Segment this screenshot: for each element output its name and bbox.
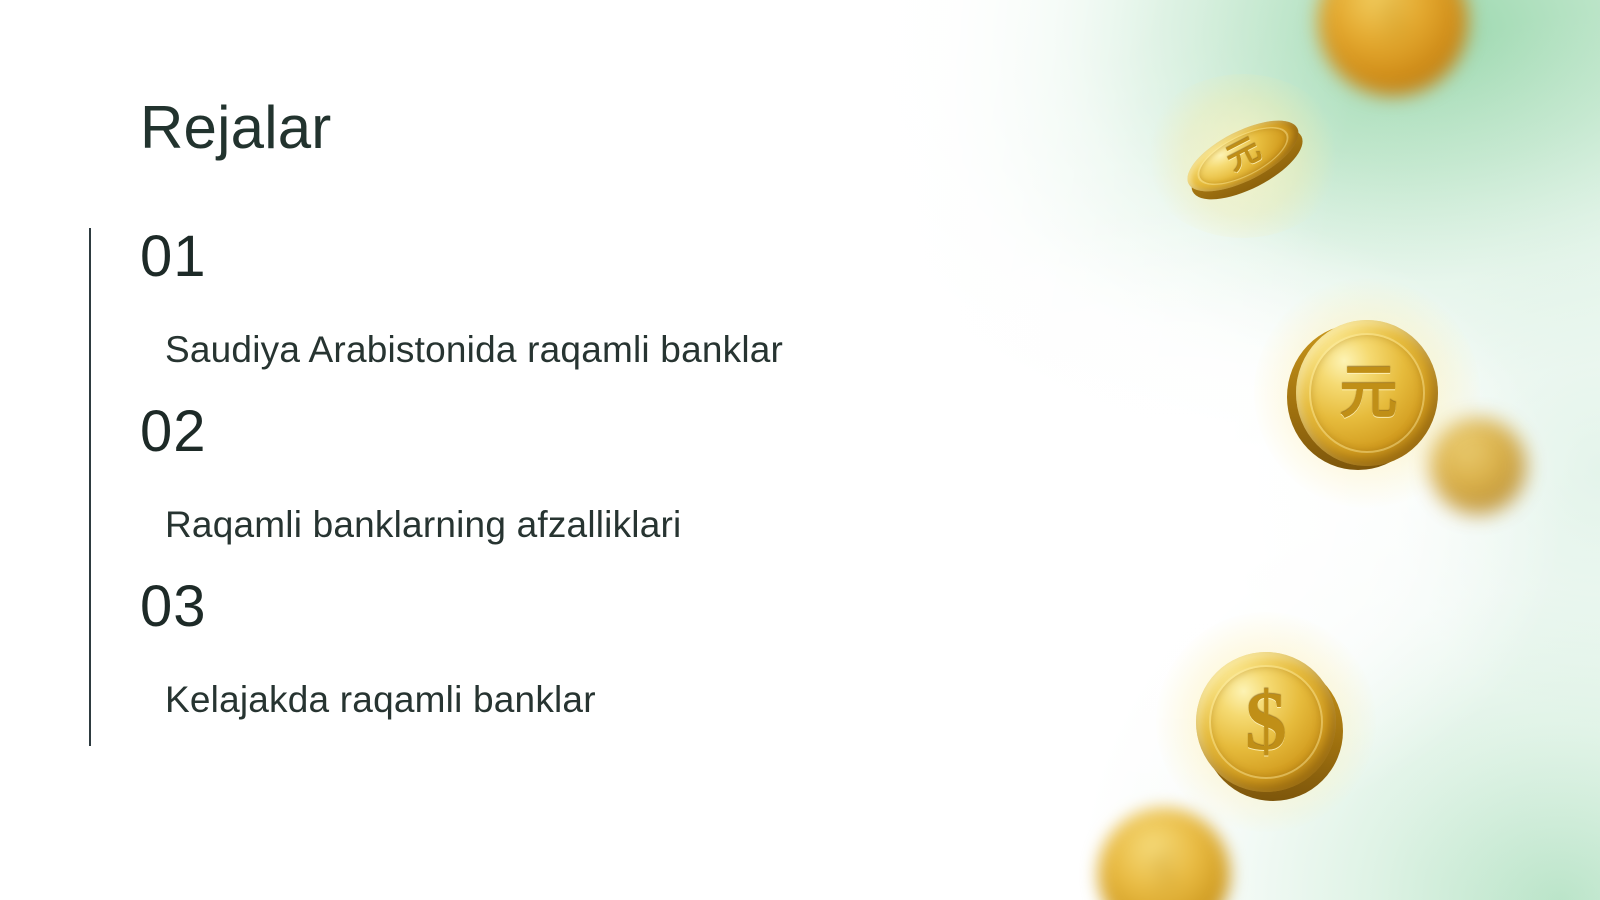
gold-coin-blurred-bottom-icon: $ bbox=[1098, 808, 1230, 900]
coin-glyph: $ bbox=[1150, 845, 1179, 900]
gold-coin-blurred-top-icon: $ bbox=[1318, 0, 1468, 96]
coin-glyph: $ bbox=[1245, 680, 1287, 764]
gold-coin-emblem-icon: 元 bbox=[1296, 320, 1438, 466]
agenda-item-number: 01 bbox=[140, 228, 207, 286]
agenda-item-label: Raqamli banklarning afzalliklari bbox=[165, 505, 681, 546]
coin-glyph: $ bbox=[1378, 0, 1409, 52]
presentation-slide: $ $ 元 元 $ Rejalar 01 Saudiya Arabistonid… bbox=[0, 0, 1600, 900]
coin-glyph: 元 bbox=[1222, 135, 1264, 177]
agenda-vertical-rule bbox=[89, 228, 91, 746]
agenda-item-number: 02 bbox=[140, 403, 207, 461]
agenda-list: 01 Saudiya Arabistonida raqamli banklar … bbox=[89, 228, 909, 746]
gold-coin-dollar-icon: $ bbox=[1196, 652, 1336, 792]
agenda-item-label: Saudiya Arabistonida raqamli banklar bbox=[165, 330, 783, 371]
coin-glyph: 元 bbox=[1339, 364, 1394, 422]
gold-coin-tilted-icon: 元 bbox=[1169, 89, 1318, 223]
slide-content: Rejalar 01 Saudiya Arabistonida raqamli … bbox=[0, 0, 960, 900]
gold-coin-blurred-right-icon bbox=[1430, 418, 1526, 514]
agenda-item-number: 03 bbox=[140, 578, 207, 636]
page-title: Rejalar bbox=[140, 96, 331, 159]
agenda-item-label: Kelajakda raqamli banklar bbox=[165, 680, 596, 721]
